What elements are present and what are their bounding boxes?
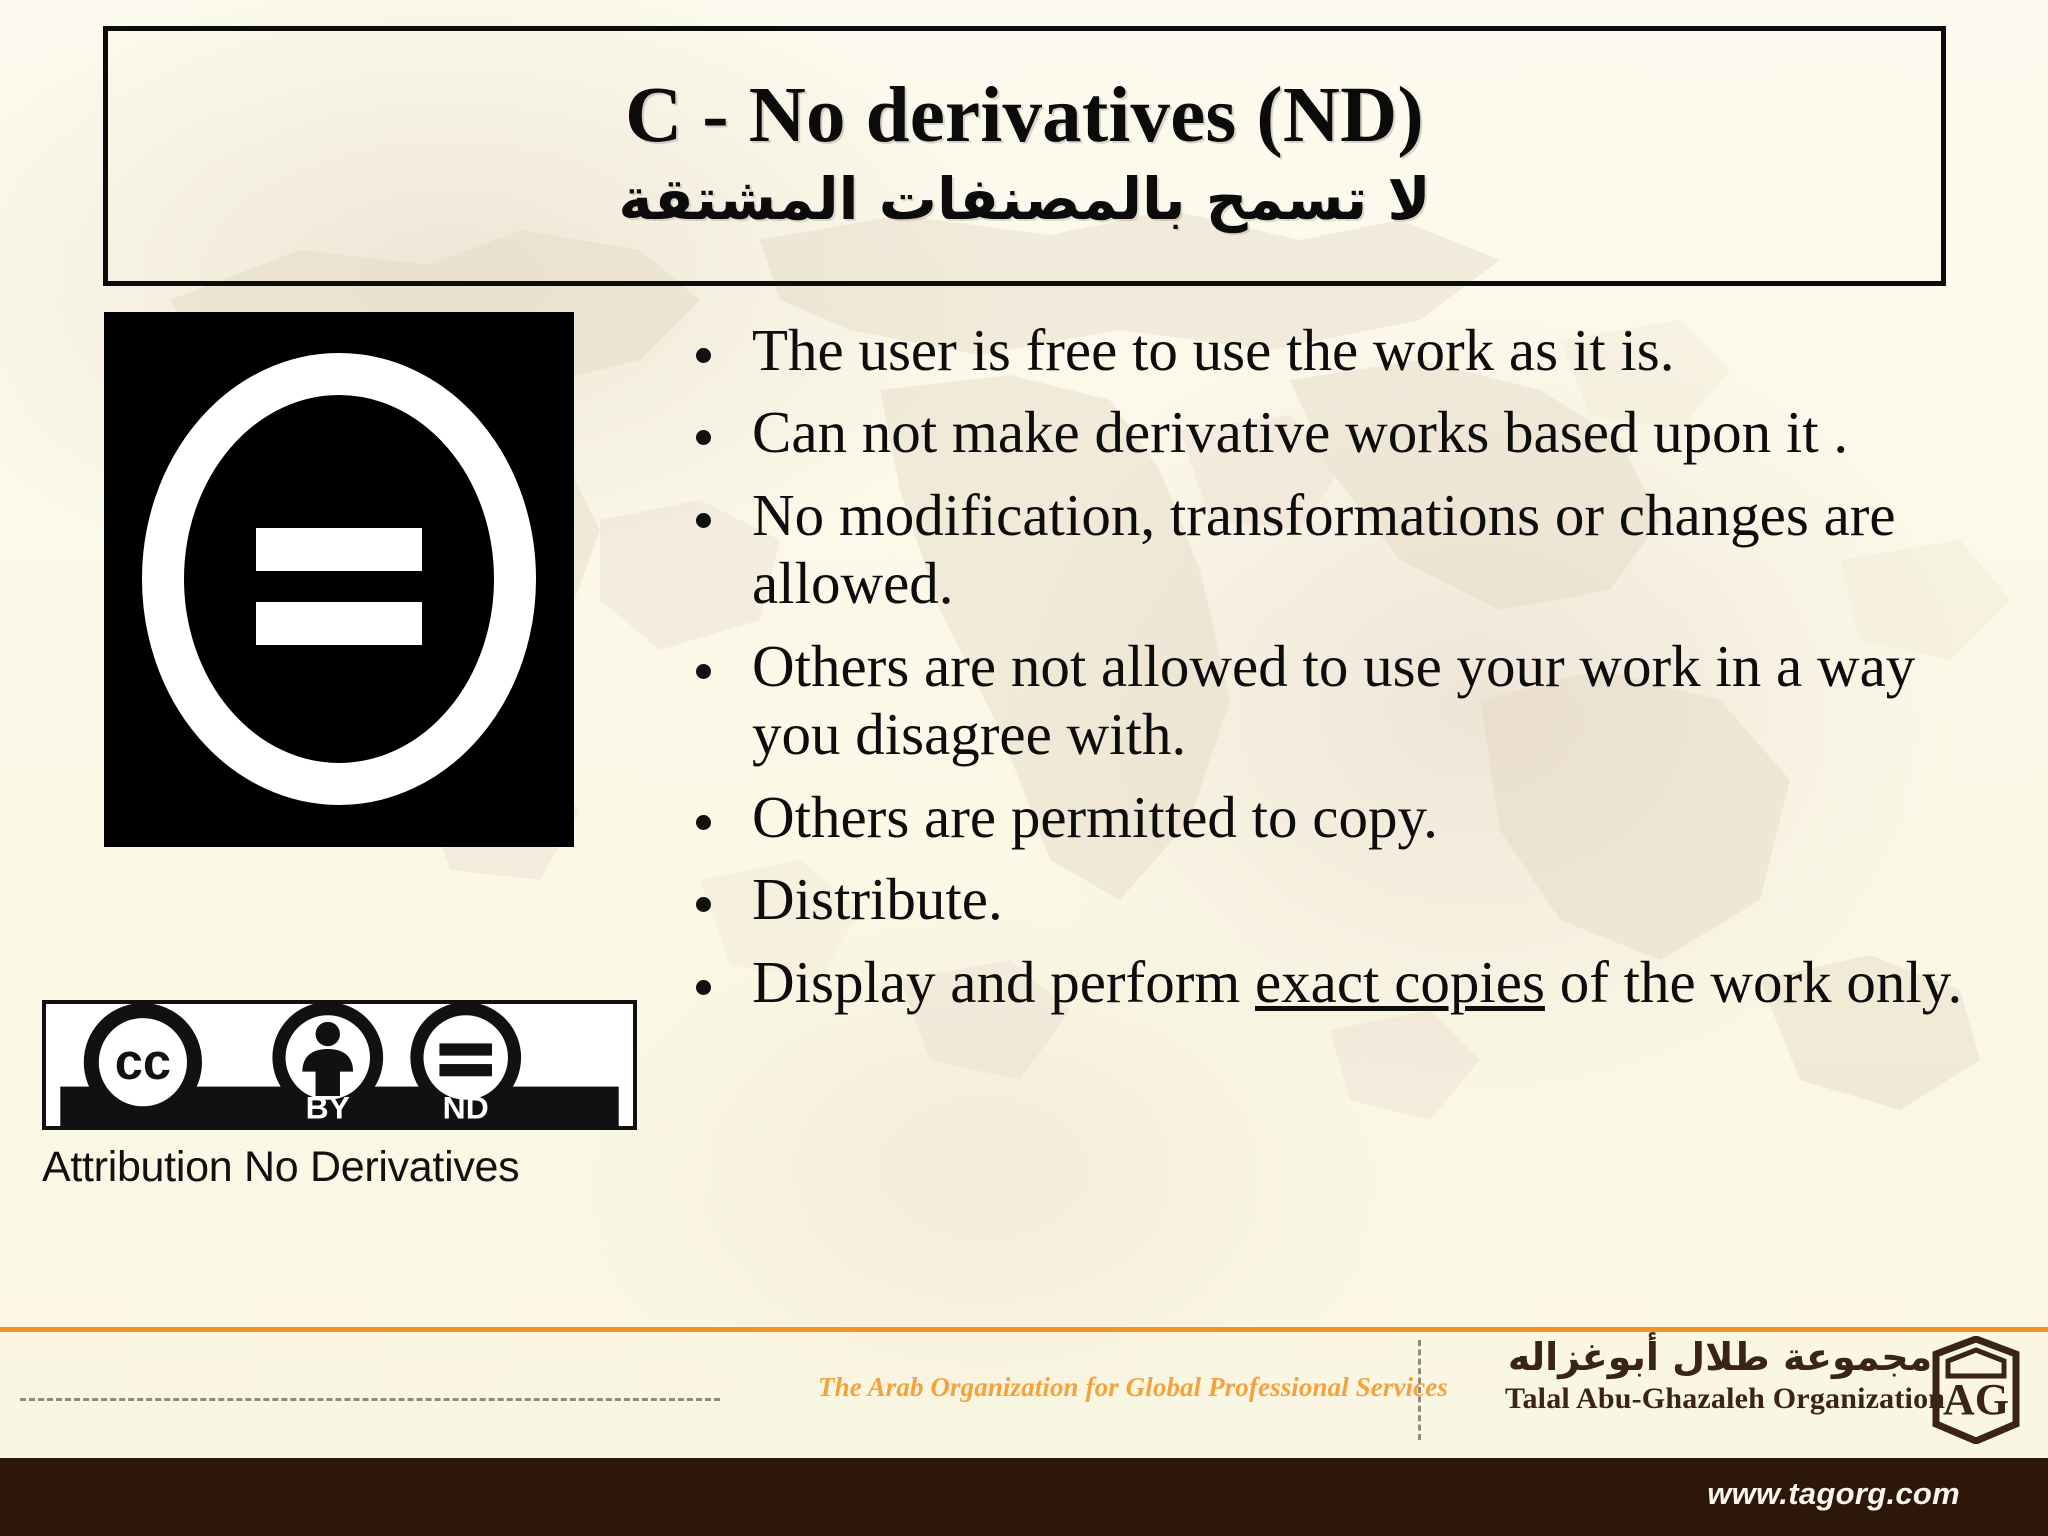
svg-text:AG: AG bbox=[1943, 1375, 2009, 1424]
page-title: C - No derivatives (ND) bbox=[625, 76, 1424, 157]
list-item: Distribute. bbox=[672, 865, 2012, 933]
list-item: Others are permitted to copy. bbox=[672, 783, 2012, 851]
no-derivatives-icon bbox=[104, 312, 574, 847]
cc-badge-caption: Attribution No Derivatives bbox=[42, 1143, 662, 1192]
list-item-text-before: Display and perform bbox=[752, 949, 1255, 1015]
cc-by-nd-badge: cc BY ND bbox=[42, 1000, 637, 1130]
footer-tagline: The Arab Organization for Global Profess… bbox=[818, 1372, 1448, 1403]
title-box: C - No derivatives (ND) لا تسمح بالمصنفا… bbox=[103, 26, 1946, 286]
organization-name-arabic: مجموعة طلال أبوغزاله bbox=[1505, 1338, 1935, 1376]
organization-logo: مجموعة طلال أبوغزاله Talal Abu-Ghazaleh … bbox=[1505, 1338, 1935, 1448]
bullet-list: The user is free to use the work as it i… bbox=[672, 316, 2012, 1030]
slide-canvas: C - No derivatives (ND) لا تسمح بالمصنفا… bbox=[0, 0, 2048, 1536]
list-item: The user is free to use the work as it i… bbox=[672, 316, 2012, 384]
svg-text:cc: cc bbox=[115, 1033, 171, 1090]
orange-divider bbox=[0, 1327, 2048, 1332]
page-title-arabic: لا تسمح بالمصنفات المشتقة bbox=[618, 163, 1430, 236]
website-url: www.tagorg.com bbox=[1707, 1476, 1960, 1512]
svg-text:BY: BY bbox=[306, 1089, 350, 1125]
list-item: No modification, transformations or chan… bbox=[672, 481, 2012, 618]
organization-name-english: Talal Abu-Ghazaleh Organization bbox=[1505, 1382, 1935, 1416]
dashed-divider-left bbox=[20, 1398, 720, 1401]
list-item-text-after: of the work only. bbox=[1545, 949, 1962, 1015]
list-item-underlined-text: exact copies bbox=[1255, 949, 1545, 1015]
ag-hexagon-logo-icon: AG bbox=[1930, 1336, 2022, 1444]
list-item: Can not make derivative works based upon… bbox=[672, 398, 2012, 466]
list-item: Others are not allowed to use your work … bbox=[672, 632, 2012, 769]
dashed-divider-vertical bbox=[1418, 1340, 1421, 1440]
list-item: Display and perform exact copies of the … bbox=[672, 948, 2012, 1016]
svg-text:ND: ND bbox=[443, 1089, 489, 1125]
